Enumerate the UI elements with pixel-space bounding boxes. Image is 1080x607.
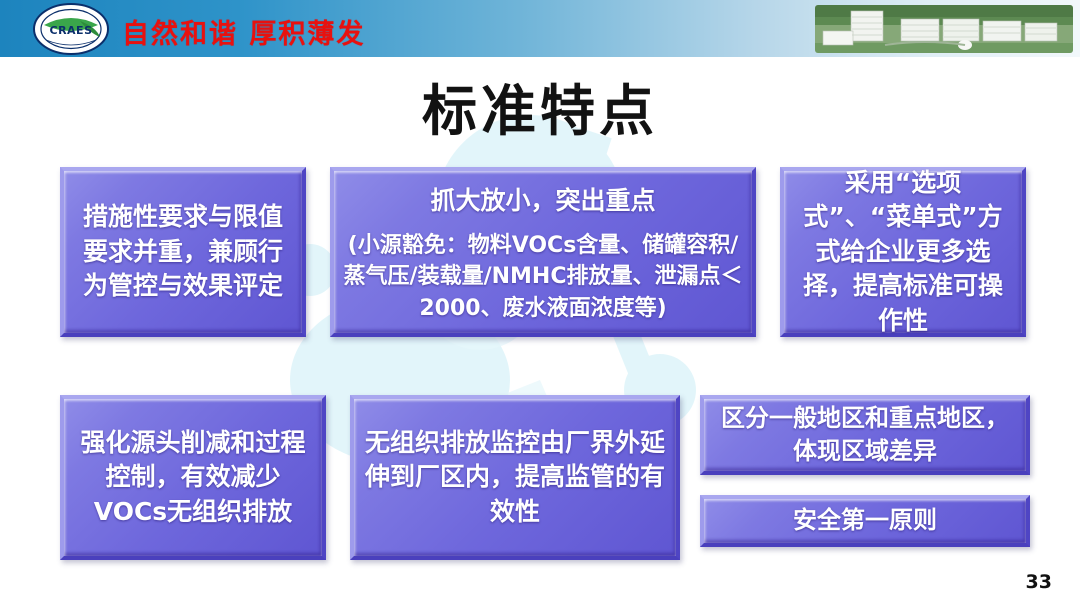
- logo-text: CRAES: [50, 24, 93, 37]
- feature-box-priority[interactable]: 抓大放小，突出重点 (小源豁免：物料VOCs含量、储罐容积/蒸气压/装载量/NM…: [330, 167, 756, 337]
- page-number: 33: [1026, 571, 1052, 593]
- feature-box-text: 措施性要求与限值要求并重，兼顾行为管控与效果评定: [72, 200, 294, 304]
- campus-aerial-photo: [815, 5, 1073, 53]
- slide-canvas: CRAES 自然和谐 厚积薄发: [0, 0, 1080, 607]
- feature-box-options[interactable]: 采用“选项式”、“菜单式”方式给企业更多选择，提高标准可操作性: [780, 167, 1026, 337]
- feature-box-text: 区分一般地区和重点地区，体现区域差异: [712, 402, 1018, 468]
- feature-box-monitoring[interactable]: 无组织排放监控由厂界外延伸到厂区内，提高监管的有效性: [350, 395, 680, 560]
- feature-box-text: 无组织排放监控由厂界外延伸到厂区内，提高监管的有效性: [362, 426, 668, 530]
- feature-box-text: 安全第一原则: [793, 504, 937, 537]
- feature-box-text: 采用“选项式”、“菜单式”方式给企业更多选择，提高标准可操作性: [792, 166, 1014, 339]
- feature-box-safety[interactable]: 安全第一原则: [700, 495, 1030, 547]
- craes-logo-icon: CRAES: [32, 3, 110, 55]
- header-band: CRAES 自然和谐 厚积薄发: [0, 0, 1080, 57]
- feature-box-source-reduction[interactable]: 强化源头削减和过程控制，有效减少VOCs无组织排放: [60, 395, 326, 560]
- feature-box-text: 强化源头削减和过程控制，有效减少VOCs无组织排放: [72, 426, 314, 530]
- feature-box-heading: 抓大放小，突出重点: [430, 185, 655, 218]
- header-title: 自然和谐 厚积薄发: [122, 12, 365, 51]
- feature-box-text: (小源豁免：物料VOCs含量、储罐容积/蒸气压/装载量/NMHC排放量、泄漏点＜…: [342, 230, 744, 326]
- feature-box-regional[interactable]: 区分一般地区和重点地区，体现区域差异: [700, 395, 1030, 475]
- feature-box-measures[interactable]: 措施性要求与限值要求并重，兼顾行为管控与效果评定: [60, 167, 306, 337]
- page-title: 标准特点: [0, 66, 1080, 146]
